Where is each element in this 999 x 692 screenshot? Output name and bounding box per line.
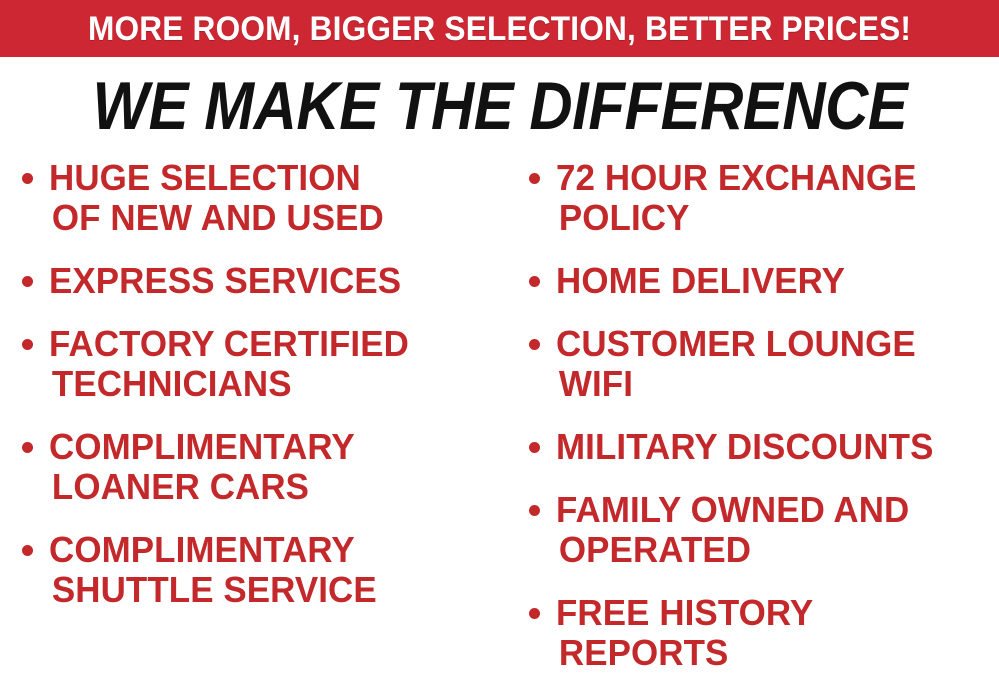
feature-item-line: CUSTOMER LOUNGE bbox=[556, 324, 986, 364]
feature-item-label: FAMILY OWNED ANDOPERATED bbox=[556, 490, 986, 570]
features-column-right: 72 HOUR EXCHANGEPOLICYHOME DELIVERYCUSTO… bbox=[505, 158, 999, 673]
feature-item-line: FREE HISTORY bbox=[556, 593, 986, 633]
bullet-dot-icon bbox=[529, 173, 540, 184]
feature-item-line: HOME DELIVERY bbox=[556, 261, 986, 301]
bullet-dot-icon bbox=[22, 545, 33, 556]
feature-item-line: COMPLIMENTARY bbox=[49, 530, 491, 570]
feature-item: FAMILY OWNED ANDOPERATED bbox=[523, 490, 999, 570]
feature-item-line: MILITARY DISCOUNTS bbox=[556, 427, 986, 467]
feature-item-line: FACTORY CERTIFIED bbox=[49, 324, 491, 364]
headline-container: WE MAKE THE DIFFERENCE bbox=[0, 68, 999, 144]
feature-item-line: POLICY bbox=[556, 198, 986, 238]
feature-item: 72 HOUR EXCHANGEPOLICY bbox=[523, 158, 999, 238]
feature-item-line: COMPLIMENTARY bbox=[49, 427, 491, 467]
feature-item-line: OPERATED bbox=[556, 530, 986, 570]
promo-poster: MORE ROOM, BIGGER SELECTION, BETTER PRIC… bbox=[0, 0, 999, 692]
feature-item-label: COMPLIMENTARYSHUTTLE SERVICE bbox=[49, 530, 491, 610]
banner-headline-text: MORE ROOM, BIGGER SELECTION, BETTER PRIC… bbox=[88, 12, 911, 46]
bullet-dot-icon bbox=[529, 339, 540, 350]
feature-item-line: 72 HOUR EXCHANGE bbox=[556, 158, 986, 198]
bullet-dot-icon bbox=[22, 276, 33, 287]
feature-item-label: HOME DELIVERY bbox=[556, 261, 986, 301]
feature-item-line: REPORTS bbox=[556, 633, 986, 673]
feature-item-line: HUGE SELECTION bbox=[49, 158, 491, 198]
feature-list-right: 72 HOUR EXCHANGEPOLICYHOME DELIVERYCUSTO… bbox=[523, 158, 999, 673]
bullet-dot-icon bbox=[529, 608, 540, 619]
feature-item: HUGE SELECTIONOF NEW AND USED bbox=[16, 158, 505, 238]
feature-list-left: HUGE SELECTIONOF NEW AND USEDEXPRESS SER… bbox=[16, 158, 505, 610]
feature-item-line: FAMILY OWNED AND bbox=[556, 490, 986, 530]
feature-item: FACTORY CERTIFIEDTECHNICIANS bbox=[16, 324, 505, 404]
feature-item-label: CUSTOMER LOUNGEWIFI bbox=[556, 324, 986, 404]
feature-item-label: EXPRESS SERVICES bbox=[49, 261, 491, 301]
feature-item-line: TECHNICIANS bbox=[49, 364, 491, 404]
feature-item-label: HUGE SELECTIONOF NEW AND USED bbox=[49, 158, 491, 238]
bullet-dot-icon bbox=[22, 442, 33, 453]
bullet-dot-icon bbox=[529, 276, 540, 287]
feature-item-line: LOANER CARS bbox=[49, 467, 491, 507]
feature-item-label: FREE HISTORYREPORTS bbox=[556, 593, 986, 673]
feature-item: COMPLIMENTARYSHUTTLE SERVICE bbox=[16, 530, 505, 610]
feature-item-line: EXPRESS SERVICES bbox=[49, 261, 491, 301]
feature-item: FREE HISTORYREPORTS bbox=[523, 593, 999, 673]
bullet-dot-icon bbox=[22, 173, 33, 184]
feature-item: COMPLIMENTARYLOANER CARS bbox=[16, 427, 505, 507]
feature-item: CUSTOMER LOUNGEWIFI bbox=[523, 324, 999, 404]
feature-item-line: WIFI bbox=[556, 364, 986, 404]
feature-item: EXPRESS SERVICES bbox=[16, 261, 505, 301]
feature-item-line: OF NEW AND USED bbox=[49, 198, 491, 238]
feature-item: MILITARY DISCOUNTS bbox=[523, 427, 999, 467]
top-banner: MORE ROOM, BIGGER SELECTION, BETTER PRIC… bbox=[0, 0, 999, 57]
feature-item: HOME DELIVERY bbox=[523, 261, 999, 301]
feature-item-label: MILITARY DISCOUNTS bbox=[556, 427, 986, 467]
main-headline: WE MAKE THE DIFFERENCE bbox=[92, 71, 907, 141]
features-columns: HUGE SELECTIONOF NEW AND USEDEXPRESS SER… bbox=[0, 158, 999, 692]
features-column-left: HUGE SELECTIONOF NEW AND USEDEXPRESS SER… bbox=[0, 158, 505, 610]
feature-item-line: SHUTTLE SERVICE bbox=[49, 570, 491, 610]
feature-item-label: COMPLIMENTARYLOANER CARS bbox=[49, 427, 491, 507]
bullet-dot-icon bbox=[22, 339, 33, 350]
feature-item-label: 72 HOUR EXCHANGEPOLICY bbox=[556, 158, 986, 238]
bullet-dot-icon bbox=[529, 505, 540, 516]
bullet-dot-icon bbox=[529, 442, 540, 453]
feature-item-label: FACTORY CERTIFIEDTECHNICIANS bbox=[49, 324, 491, 404]
